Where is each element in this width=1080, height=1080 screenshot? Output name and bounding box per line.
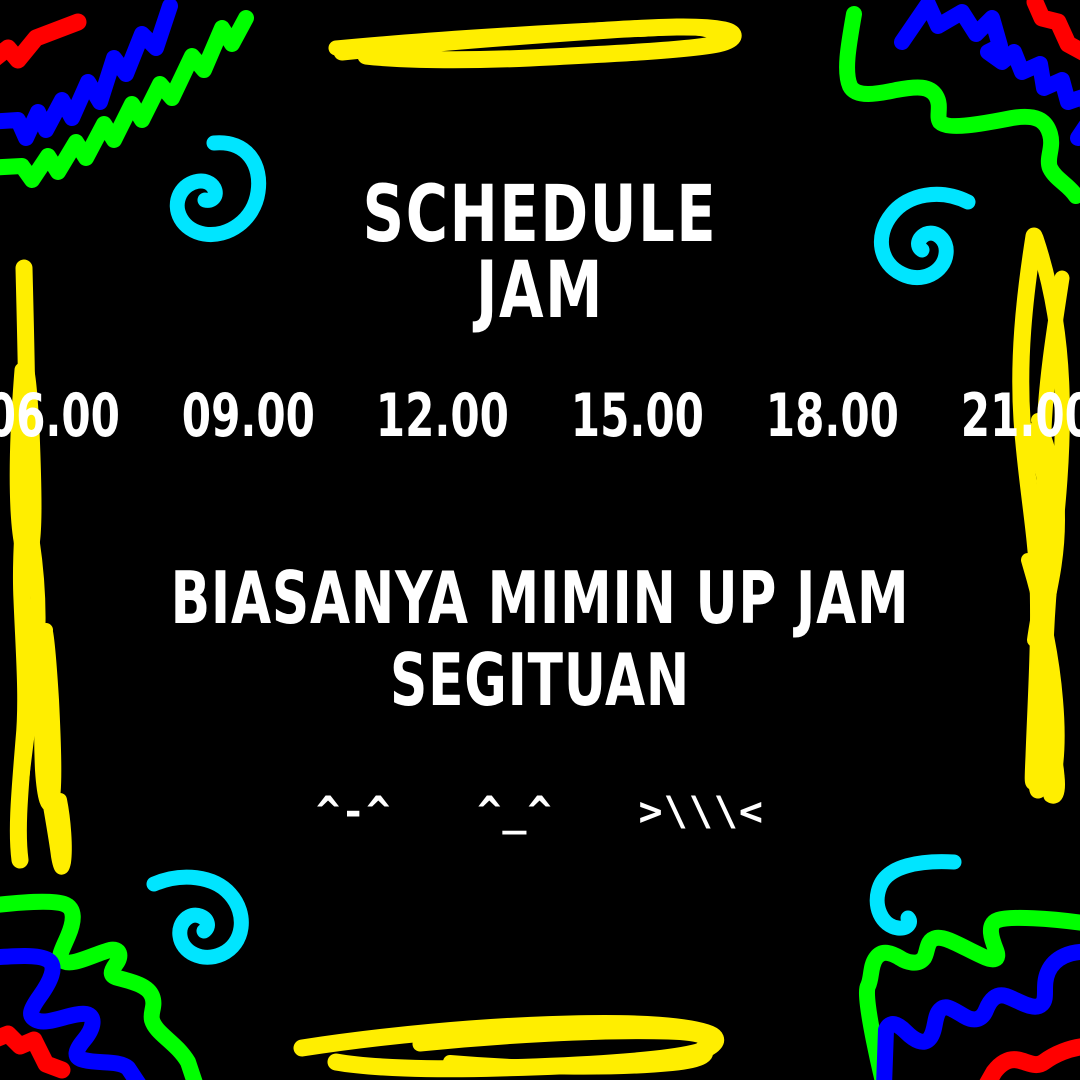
poster-canvas: SCHEDULE JAM 06.00 09.00 12.00 15.00 18.… — [0, 0, 1080, 1080]
message-line2: SEGITUAN — [108, 644, 972, 716]
emoticon: ^_^ — [477, 792, 552, 832]
page-title-line2: JAM — [97, 252, 983, 330]
schedule-time: 12.00 — [376, 386, 509, 446]
message-line1: BIASANYA MIMIN UP JAM — [108, 562, 972, 634]
emoticons-row: ^-^ ^_^ >\\\< — [0, 792, 1080, 832]
schedule-time: 06.00 — [0, 386, 120, 446]
schedule-time: 09.00 — [181, 386, 314, 446]
emoticon: ^-^ — [316, 792, 391, 832]
schedule-times-row: 06.00 09.00 12.00 15.00 18.00 21.00 — [0, 386, 1080, 446]
schedule-time: 21.00 — [960, 386, 1080, 446]
content-layer: SCHEDULE JAM 06.00 09.00 12.00 15.00 18.… — [0, 0, 1080, 1080]
schedule-time: 18.00 — [766, 386, 899, 446]
emoticon: >\\\< — [639, 792, 764, 832]
schedule-time: 15.00 — [571, 386, 704, 446]
page-title-line1: SCHEDULE — [97, 176, 983, 254]
